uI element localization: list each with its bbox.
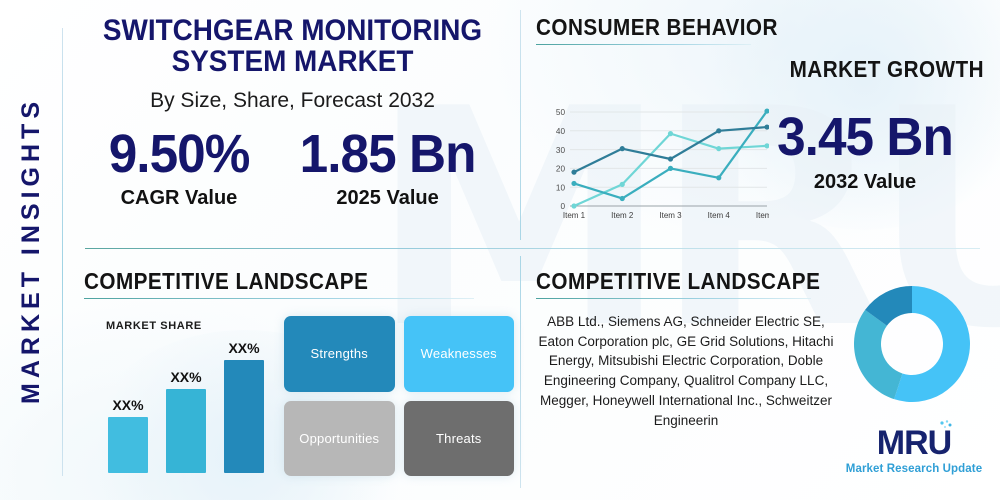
market-growth-heading: MARKET GROWTH xyxy=(790,56,984,83)
market-growth-stat: 3.45 Bn 2032 Value xyxy=(760,110,970,194)
side-banner: MARKET INSIGHTS xyxy=(0,0,62,500)
swot-box-weaknesses[interactable]: Weaknesses xyxy=(404,316,515,392)
market-growth-value: 3.45 Bn xyxy=(765,110,965,164)
swot-grid: StrengthsWeaknessesOpportunitiesThreats xyxy=(284,316,514,476)
logo-mark: MRU xyxy=(877,426,951,460)
svg-text:20: 20 xyxy=(556,165,566,174)
stat-cagr-value: 9.50% xyxy=(109,127,250,181)
donut-chart xyxy=(836,268,988,420)
donut-chart-svg xyxy=(836,268,988,420)
svg-text:Item 5: Item 5 xyxy=(756,211,769,220)
divider-horizontal xyxy=(85,248,980,249)
bar xyxy=(166,389,206,473)
svg-text:Item 2: Item 2 xyxy=(611,211,634,220)
consumer-behavior-heading: CONSUMER BEHAVIOR xyxy=(536,14,943,41)
line-chart: 01020304050Item 1Item 2Item 3Item 4Item … xyxy=(544,106,769,228)
bar-group: XX% xyxy=(108,397,148,473)
swot-box-threats[interactable]: Threats xyxy=(404,401,515,477)
competitive-landscape-right-rule xyxy=(536,298,811,299)
side-banner-label: MARKET INSIGHTS xyxy=(17,97,46,404)
line-chart-svg: 01020304050Item 1Item 2Item 3Item 4Item … xyxy=(544,106,769,228)
bar-value-label: XX% xyxy=(224,340,264,356)
competitive-landscape-right-panel: COMPETITIVE LANDSCAPE ABB Ltd., Siemens … xyxy=(536,268,988,492)
stat-2025-value: 1.85 Bn xyxy=(300,127,476,181)
consumer-behavior-rule xyxy=(536,44,751,45)
stat-2025-caption: 2025 Value xyxy=(295,187,480,210)
market-growth-caption: 2032 Value xyxy=(760,171,970,194)
donut-segment xyxy=(854,310,902,399)
infographic-canvas: MRU MARKET INSIGHTS SWITCHGEAR MONITORIN… xyxy=(0,0,1000,500)
competitive-landscape-left-rule xyxy=(84,298,474,299)
logo-droplet-icon xyxy=(937,419,955,437)
company-list: ABB Ltd., Siemens AG, Schneider Electric… xyxy=(536,312,836,430)
svg-text:10: 10 xyxy=(556,183,566,192)
svg-text:Item 1: Item 1 xyxy=(563,211,586,220)
swot-box-strengths[interactable]: Strengths xyxy=(284,316,395,392)
divider-vertical-left xyxy=(62,28,63,476)
page-subtitle: By Size, Share, Forecast 2032 xyxy=(70,89,515,113)
divider-vertical-top xyxy=(520,10,521,240)
svg-text:0: 0 xyxy=(560,202,565,211)
bar-value-label: XX% xyxy=(108,397,148,413)
stat-cagr-caption: CAGR Value xyxy=(105,187,253,210)
svg-text:40: 40 xyxy=(556,127,566,136)
swot-box-opportunities[interactable]: Opportunities xyxy=(284,401,395,477)
logo-tagline: Market Research Update xyxy=(844,463,984,475)
bar-value-label: XX% xyxy=(166,369,206,385)
svg-text:Item 3: Item 3 xyxy=(659,211,682,220)
svg-text:Item 4: Item 4 xyxy=(708,211,731,220)
divider-vertical-bottom xyxy=(520,256,521,488)
bar xyxy=(224,360,264,473)
bar-group: XX% xyxy=(224,340,264,473)
bar xyxy=(108,417,148,473)
key-stats: 9.50% CAGR Value 1.85 Bn 2025 Value xyxy=(70,127,515,210)
svg-text:50: 50 xyxy=(556,108,566,117)
headline-panel: SWITCHGEAR MONITORING SYSTEM MARKET By S… xyxy=(70,8,515,210)
svg-text:30: 30 xyxy=(556,146,566,155)
bar-group: XX% xyxy=(166,369,206,473)
consumer-behavior-panel: CONSUMER BEHAVIOR MARKET GROWTH 3.45 Bn … xyxy=(536,14,988,240)
page-title: SWITCHGEAR MONITORING SYSTEM MARKET xyxy=(86,16,500,78)
stat-cagr: 9.50% CAGR Value xyxy=(105,127,253,210)
competitive-landscape-left-heading: COMPETITIVE LANDSCAPE xyxy=(84,268,471,295)
competitive-landscape-left-panel: COMPETITIVE LANDSCAPE MARKET SHARE XX%XX… xyxy=(84,268,514,490)
logo: MRU Market Research Update xyxy=(844,426,984,475)
stat-2025: 1.85 Bn 2025 Value xyxy=(295,127,480,210)
market-share-bar-chart: XX%XX%XX% xyxy=(98,328,288,473)
